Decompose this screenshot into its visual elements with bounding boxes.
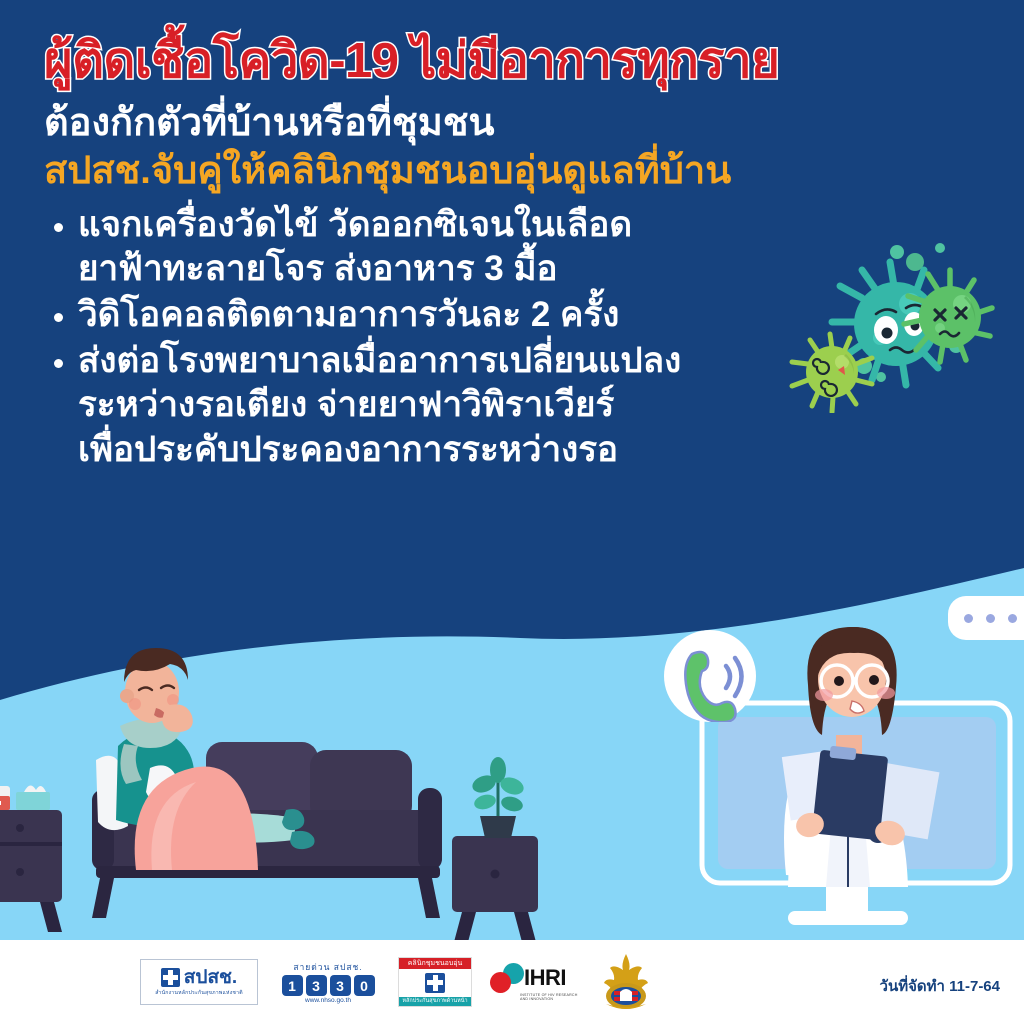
hotline-digit: 3 [306, 975, 327, 996]
nightstand-right [452, 757, 538, 940]
hotline-label: สายด่วน สปสช. [293, 960, 362, 974]
footer-bar: สปสช. สำนักงานหลักประกันสุขภาพแห่งชาติ ส… [0, 940, 1024, 1024]
bullet-3-line-3: เพื่อประคับประคองอาการระหว่างรอ [78, 428, 864, 472]
typing-dot [1008, 614, 1017, 623]
clinic-logo-subtitle: หลักประกันสุขภาพด้านหน้า [399, 997, 471, 1007]
copy-block: ผู้ติดเชื้อโควิด-19 ไม่มีอาการทุกราย ต้อ… [44, 36, 864, 474]
chat-bubble [948, 596, 1024, 640]
bullet-1-line-2: ยาฟ้าทะลายโจร ส่งอาหาร 3 มื้อ [78, 247, 864, 291]
hotline-digit: 0 [354, 975, 375, 996]
nhso-logo: สปสช. สำนักงานหลักประกันสุขภาพแห่งชาติ [140, 959, 258, 1005]
list-item: แจกเครื่องวัดไข้ วัดออกซิเจนในเลือด ยาฟ้… [44, 203, 864, 291]
date-stamp: วันที่จัดทำ 11-7-64 [880, 974, 1000, 998]
bullet-3-line-2: ระหว่างรอเตียง จ่ายยาฟาวิพิราเวียร์ [78, 383, 864, 427]
bullet-1-line-1: แจกเครื่องวัดไข้ วัดออกซิเจนในเลือด [78, 203, 864, 247]
ihri-logo-text: IHRI [524, 967, 566, 989]
subhead-line-1: ต้องกักตัวที่บ้านหรือที่ชุมชน [44, 102, 864, 145]
nightstand-left [0, 785, 62, 932]
hotline-block: สายด่วน สปสช. 1 3 3 0 www.nhso.go.th [276, 960, 380, 1004]
bullet-3-line-1: ส่งต่อโรงพยาบาลเมื่ออาการเปลี่ยนแปลง [78, 339, 864, 383]
list-item: ส่งต่อโรงพยาบาลเมื่ออาการเปลี่ยนแปลง ระห… [44, 339, 864, 471]
benefit-list: แจกเครื่องวัดไข้ วัดออกซิเจนในเลือด ยาฟ้… [44, 203, 864, 472]
video-call-icon [664, 630, 756, 722]
hotline-digit: 1 [282, 975, 303, 996]
nhso-logo-name: สปสช. [184, 968, 237, 987]
clinic-logo-title: คลินิกชุมชนอบอุ่น [399, 958, 471, 969]
typing-dot [986, 614, 995, 623]
ihri-logo: IHRI INSTITUTE OF HIV RESEARCH AND INNOV… [490, 963, 582, 1001]
partner-logo-row: สปสช. สำนักงานหลักประกันสุขภาพแห่งชาติ ส… [140, 948, 652, 1016]
bullet-2-line-1: วิดิโอคอลติดตามอาการวันละ 2 ครั้ง [78, 293, 864, 337]
subhead-line-2: สปสช.จับคู่ให้คลินิกชุมชนอบอุ่นดูแลที่บ้… [44, 150, 864, 193]
ihri-logo-subtitle: INSTITUTE OF HIV RESEARCH AND INNOVATION [520, 993, 582, 1001]
medical-cross-icon [161, 968, 180, 987]
infographic-poster: ผู้ติดเชื้อโควิด-19 ไม่มีอาการทุกราย ต้อ… [0, 0, 1024, 1024]
ihri-circles-icon [490, 963, 524, 993]
website-url[interactable]: www.nhso.go.th [305, 997, 351, 1004]
hotline-number: 1 3 3 0 [282, 975, 375, 996]
thai-royal-emblem-icon [600, 952, 652, 1012]
hotline-digit: 3 [330, 975, 351, 996]
warm-community-clinic-logo: คลินิกชุมชนอบอุ่น หลักประกันสุขภาพด้านหน… [398, 957, 472, 1007]
medical-cross-icon [425, 973, 445, 993]
typing-dot [964, 614, 973, 623]
nhso-logo-subtitle: สำนักงานหลักประกันสุขภาพแห่งชาติ [155, 989, 243, 997]
list-item: วิดิโอคอลติดตามอาการวันละ 2 ครั้ง [44, 293, 864, 337]
sick-man-on-sofa-illustration [0, 620, 540, 940]
coronavirus-characters [780, 238, 1024, 413]
page-title: ผู้ติดเชื้อโควิด-19 ไม่มีอาการทุกราย [44, 36, 864, 88]
